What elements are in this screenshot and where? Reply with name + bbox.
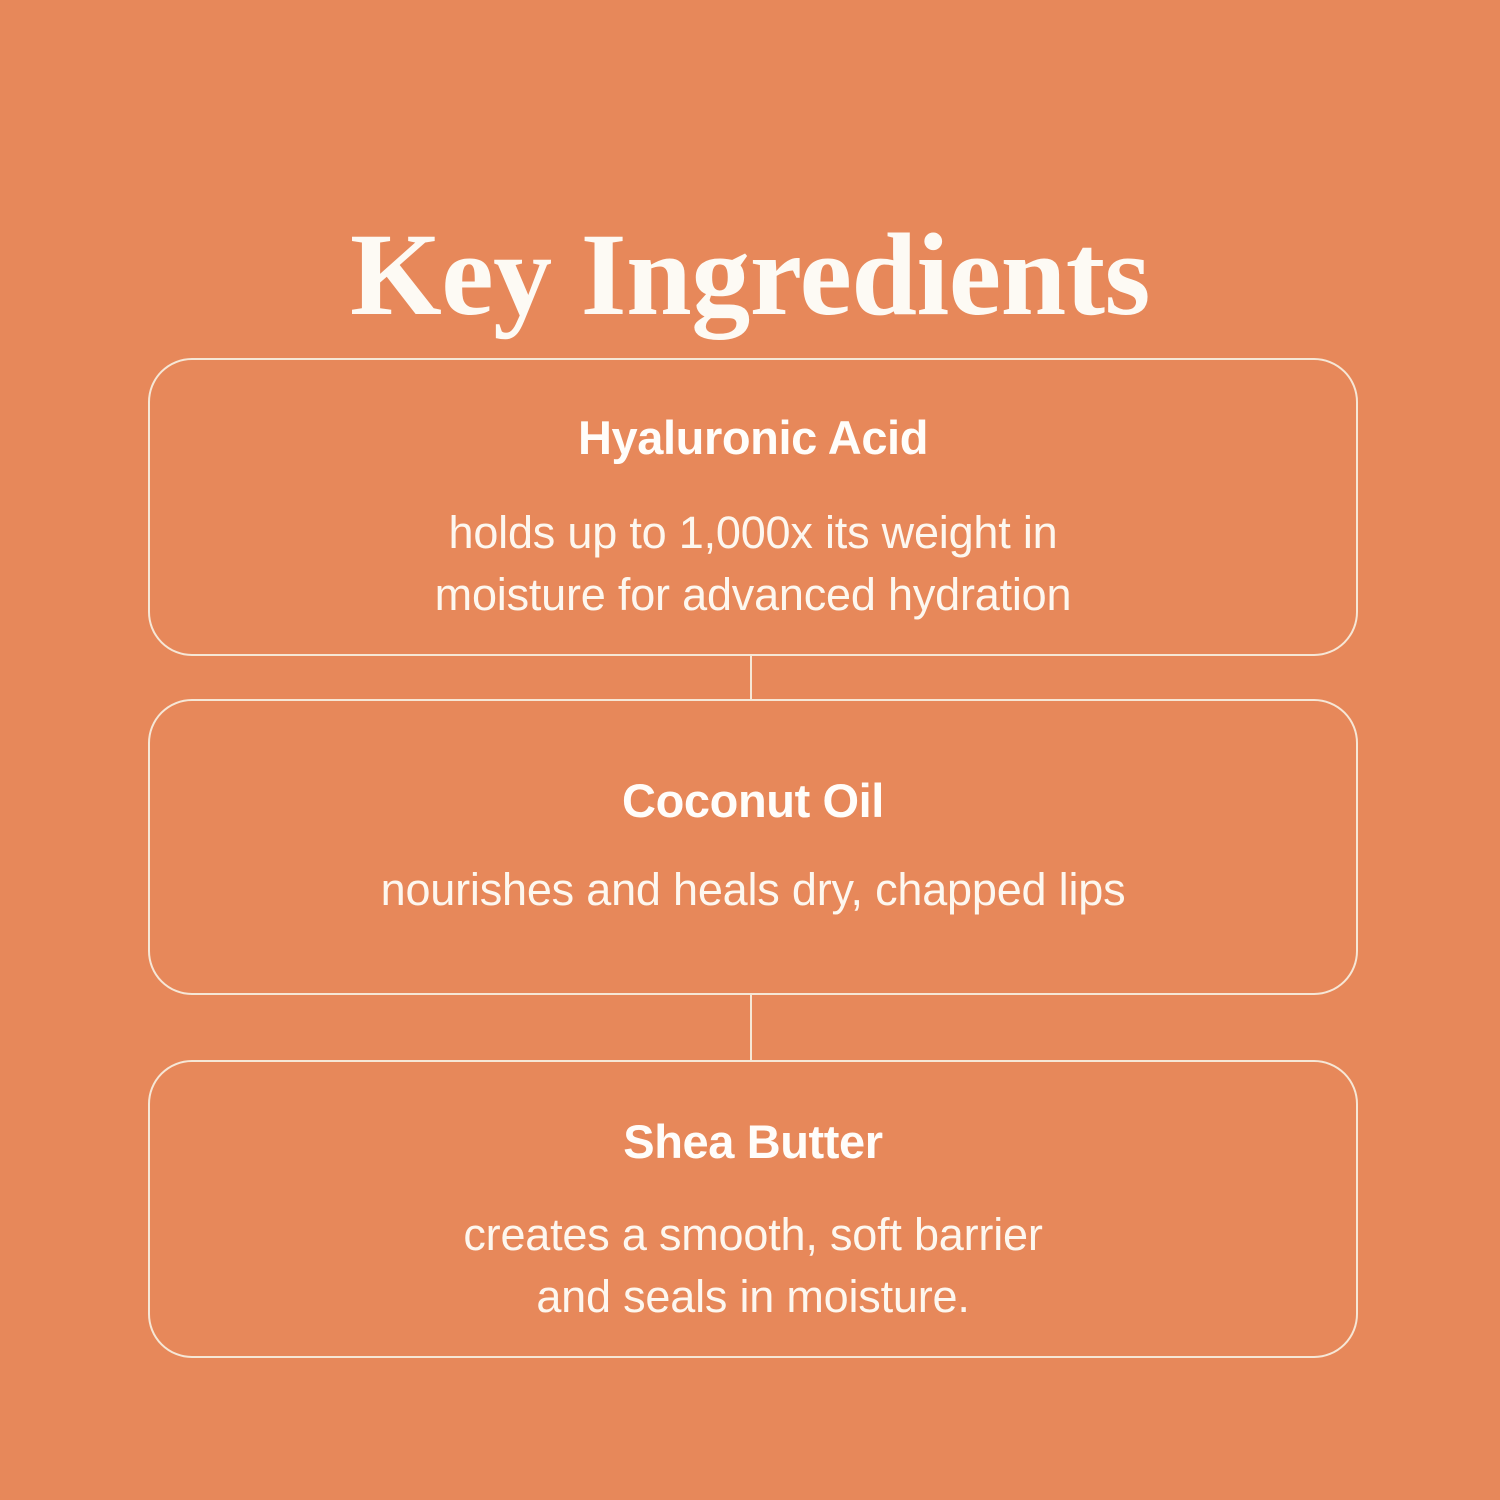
ingredient-name: Shea Butter — [623, 1114, 882, 1170]
ingredient-description: nourishes and heals dry, chapped lips — [381, 859, 1126, 921]
connector-line-1 — [750, 656, 752, 699]
ingredient-card-shea-butter[interactable]: Shea Butter creates a smooth, soft barri… — [148, 1060, 1358, 1358]
ingredient-card-coconut-oil[interactable]: Coconut Oil nourishes and heals dry, cha… — [148, 699, 1358, 995]
description-line: moisture for advanced hydration — [435, 564, 1072, 626]
connector-line-2 — [750, 995, 752, 1060]
ingredient-name: Hyaluronic Acid — [578, 410, 928, 466]
description-line: creates a smooth, soft barrier — [463, 1204, 1042, 1266]
description-line: holds up to 1,000x its weight in — [435, 502, 1072, 564]
ingredient-description: creates a smooth, soft barrier and seals… — [463, 1204, 1042, 1328]
key-ingredients-poster: Key Ingredients Hyaluronic Acid holds up… — [0, 0, 1500, 1500]
ingredient-name: Coconut Oil — [622, 773, 884, 829]
description-line: and seals in moisture. — [463, 1266, 1042, 1328]
ingredient-description: holds up to 1,000x its weight in moistur… — [435, 502, 1072, 626]
ingredient-card-hyaluronic-acid[interactable]: Hyaluronic Acid holds up to 1,000x its w… — [148, 358, 1358, 656]
description-line: nourishes and heals dry, chapped lips — [381, 859, 1126, 921]
page-title: Key Ingredients — [0, 211, 1500, 338]
